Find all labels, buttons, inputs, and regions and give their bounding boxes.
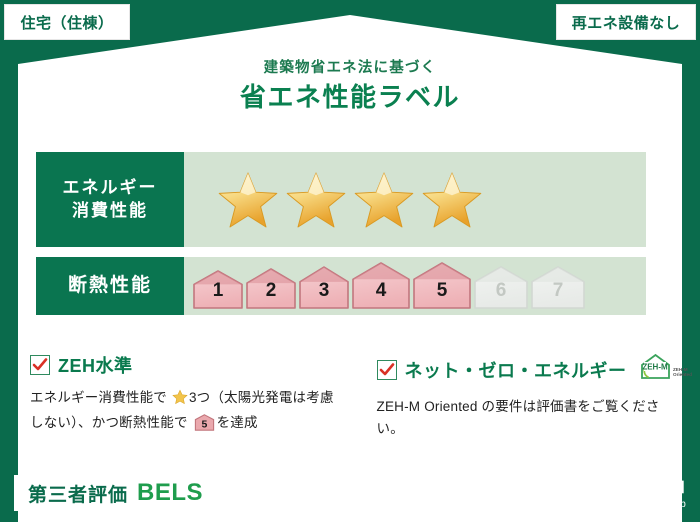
footer-bar: 第三者評価 BELS グランマーリエ松野通 評価日 2025年2月17日 79a… xyxy=(0,464,700,522)
criteria-nze-description: ZEH-M Oriented の要件は評価書をご覧ください。 xyxy=(377,396,664,440)
title-block: 建築物省エネ法に基づく 省エネ性能ラベル xyxy=(0,60,700,114)
zeh-m-oriented-logo-icon: ZEH-M ZEH-M Oriented xyxy=(639,352,697,387)
badge-building-type: 住宅（住棟） xyxy=(4,4,130,40)
inline-grade-value: 5 xyxy=(201,418,207,430)
title-subtitle: 建築物省エネ法に基づく xyxy=(0,60,700,77)
insulation-grade-value: 4 xyxy=(351,280,411,302)
bels-jp-label: 第三者評価 xyxy=(28,480,128,507)
criteria-section: ZEH水準 エネルギー消費性能で 3つ（太陽光発電は考慮しない）、かつ断熱性能で… xyxy=(30,352,675,440)
energy-star-rating xyxy=(184,152,646,247)
criteria-zeh: ZEH水準 エネルギー消費性能で 3つ（太陽光発電は考慮しない）、かつ断熱性能で… xyxy=(30,352,353,440)
insulation-grade-value: 2 xyxy=(245,280,297,302)
badge-renewable-energy: 再エネ設備なし xyxy=(556,4,696,40)
insulation-grade-badge: 2 xyxy=(245,268,297,310)
star-icon xyxy=(218,171,278,229)
evaluation-date: 評価日 2025年2月17日 xyxy=(539,477,686,497)
insulation-grade-badge: 7 xyxy=(530,266,586,310)
zeh-m-logo-sub2: Oriented xyxy=(673,372,692,377)
insulation-grade-badge: 5 xyxy=(412,262,472,310)
energy-label-line1: エネルギー xyxy=(63,177,158,200)
insulation-grade-value: 1 xyxy=(192,280,244,302)
insulation-performance-label: 断熱性能 xyxy=(36,257,184,315)
performance-rows: エネルギー 消費性能 断熱性能 1234567 xyxy=(36,152,646,325)
insulation-grade-badge: 4 xyxy=(351,262,411,310)
criteria-nze-title: ネット・ゼロ・エネルギー xyxy=(405,357,627,383)
insulation-grade-scale: 1234567 xyxy=(184,257,646,315)
insulation-grade-badge: 6 xyxy=(473,266,529,310)
criteria-zeh-header: ZEH水準 xyxy=(30,352,341,378)
energy-performance-label: エネルギー 消費性能 xyxy=(36,152,184,247)
inline-star-icon xyxy=(168,393,188,408)
bels-en-label: BELS xyxy=(137,479,203,507)
zeh-text-part3: を達成 xyxy=(217,415,258,430)
star-icon xyxy=(286,171,346,229)
energy-label-line2: 消費性能 xyxy=(72,200,148,223)
row-insulation-performance: 断熱性能 1234567 xyxy=(36,257,646,315)
insulation-grade-badge: 3 xyxy=(298,266,350,310)
insulation-grade-value: 5 xyxy=(412,280,472,302)
insulation-grade-value: 7 xyxy=(530,280,586,302)
criteria-net-zero-energy: ネット・ゼロ・エネルギー ZEH-M ZEH-M Oriented ZEH-M … xyxy=(353,352,676,440)
bels-certification-badge: 第三者評価 BELS xyxy=(14,475,215,511)
energy-performance-label: 住宅（住棟） 再エネ設備なし 建築物省エネ法に基づく 省エネ性能ラベル エネルギ… xyxy=(0,0,700,522)
zeh-m-logo-main: ZEH-M xyxy=(642,363,668,372)
badge-renewable-energy-label: 再エネ設備なし xyxy=(572,12,681,33)
badge-building-type-label: 住宅（住棟） xyxy=(20,12,113,33)
insulation-label-text: 断熱性能 xyxy=(68,273,152,299)
page-title: 省エネ性能ラベル xyxy=(0,82,700,113)
star-icon xyxy=(354,171,414,229)
criteria-nze-header: ネット・ゼロ・エネルギー ZEH-M ZEH-M Oriented xyxy=(377,352,664,387)
row-energy-performance: エネルギー 消費性能 xyxy=(36,152,646,247)
criteria-zeh-title: ZEH水準 xyxy=(58,352,133,378)
checkbox-zeh-icon xyxy=(30,355,50,375)
checkbox-nze-icon xyxy=(377,360,397,380)
evaluation-info: 評価日 2025年2月17日 79a24646-0f39-447b xyxy=(539,477,686,510)
insulation-grade-value: 3 xyxy=(298,280,350,302)
zeh-text-part1: エネルギー消費性能で xyxy=(30,390,167,405)
criteria-zeh-description: エネルギー消費性能で 3つ（太陽光発電は考慮しない）、かつ断熱性能で 5 を達成 xyxy=(30,387,341,438)
insulation-grade-value: 6 xyxy=(473,280,529,302)
building-name: グランマーリエ松野通 xyxy=(227,483,372,503)
insulation-grade-badge: 1 xyxy=(192,270,244,310)
star-icon xyxy=(422,171,482,229)
inline-grade-badge-icon: 5 xyxy=(190,419,215,434)
evaluation-id: 79a24646-0f39-447b xyxy=(539,499,686,510)
